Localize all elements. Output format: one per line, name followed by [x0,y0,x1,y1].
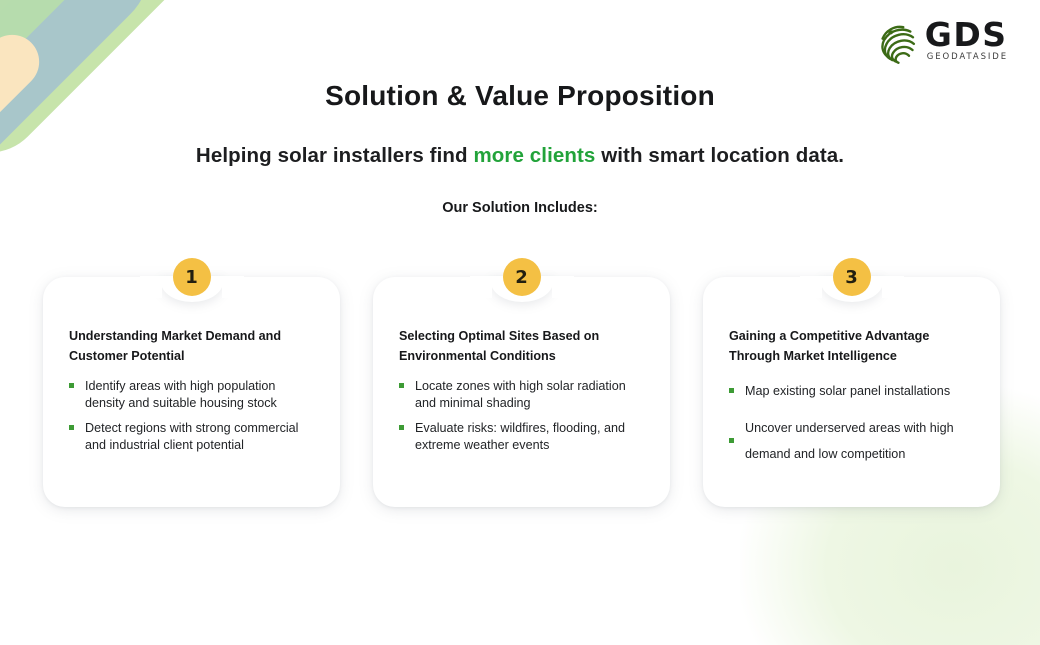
card-heading: Understanding Market Demand and Customer… [69,326,316,366]
list-item-text: Uncover underserved areas with high dema… [745,421,954,462]
list-item-text: Identify areas with high population dens… [85,379,277,410]
list-item-text: Detect regions with strong commercial an… [85,421,298,452]
decorative-capsule-peach [0,24,50,211]
solution-card-1[interactable]: 1 Understanding Market Demand and Custom… [43,277,340,507]
list-item: Uncover underserved areas with high dema… [729,415,976,468]
list-item-text: Evaluate risks: wildfires, flooding, and… [415,421,625,452]
list-item: Detect regions with strong commercial an… [69,420,316,453]
subtitle-part-before: Helping solar installers find [196,144,474,167]
card-bullet-list: Locate zones with high solar radiation a… [399,378,646,453]
card-heading: Selecting Optimal Sites Based on Environ… [399,326,646,366]
page-subtitle: Helping solar installers find more clien… [0,144,1040,168]
bullet-square-icon [399,383,404,388]
globe-icon [876,21,920,65]
list-item-text: Map existing solar panel installations [745,384,950,398]
bullet-square-icon [69,383,74,388]
step-badge: 3 [833,258,871,296]
brand-logo: GDS GEODATASIDE [876,20,1008,65]
step-badge: 1 [173,258,211,296]
list-item-text: Locate zones with high solar radiation a… [415,379,626,410]
list-item: Map existing solar panel installations [729,378,976,405]
list-item: Locate zones with high solar radiation a… [399,378,646,411]
solution-card-2[interactable]: 2 Selecting Optimal Sites Based on Envir… [373,277,670,507]
card-bullet-list: Map existing solar panel installations U… [729,378,976,468]
solution-cards: 1 Understanding Market Demand and Custom… [43,277,1000,507]
section-kicker: Our Solution Includes: [0,200,1040,216]
list-item: Identify areas with high population dens… [69,378,316,411]
bullet-square-icon [729,388,734,393]
bullet-square-icon [399,425,404,430]
logo-word: GDS [925,20,1008,50]
logo-tagline: GEODATASIDE [927,52,1008,62]
card-content: Gaining a Competitive Advantage Through … [703,277,1000,507]
bullet-square-icon [729,438,734,443]
list-item: Evaluate risks: wildfires, flooding, and… [399,420,646,453]
solution-card-3[interactable]: 3 Gaining a Competitive Advantage Throug… [703,277,1000,507]
page-title: Solution & Value Proposition [0,80,1040,112]
card-content: Understanding Market Demand and Customer… [43,277,340,507]
subtitle-part-after: with smart location data. [595,144,844,167]
logo-wordmark: GDS GEODATASIDE [925,20,1008,62]
subtitle-accent-text: more clients [473,144,595,167]
card-bullet-list: Identify areas with high population dens… [69,378,316,453]
card-content: Selecting Optimal Sites Based on Environ… [373,277,670,507]
bullet-square-icon [69,425,74,430]
card-heading: Gaining a Competitive Advantage Through … [729,326,976,366]
step-badge: 2 [503,258,541,296]
